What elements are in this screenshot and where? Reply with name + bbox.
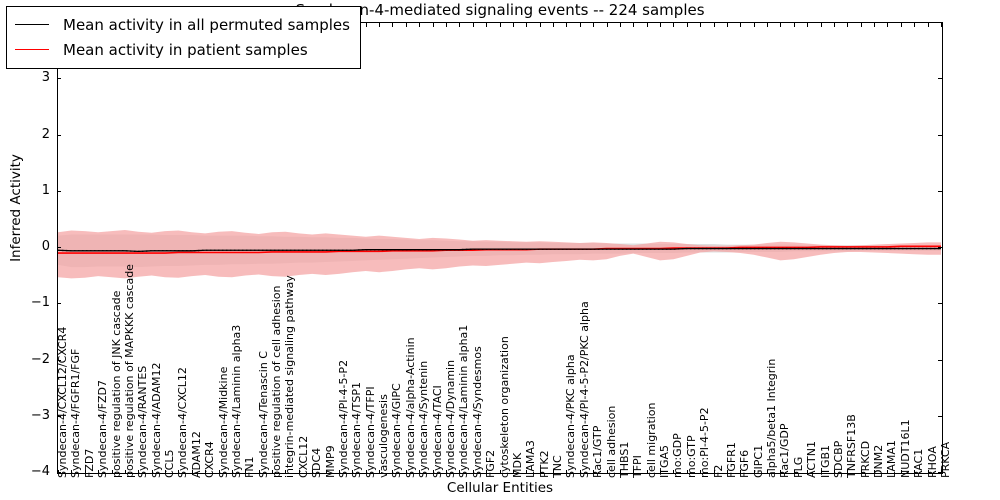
x-tick-mark-top (794, 23, 795, 27)
x-tick-mark-top (914, 23, 915, 27)
x-tick-mark-top (593, 23, 594, 27)
x-tick-mark-top (767, 23, 768, 27)
x-tick-mark-top (821, 23, 822, 27)
x-tick-mark-top (727, 23, 728, 27)
x-tick-mark (861, 470, 862, 474)
x-tick-mark (794, 470, 795, 474)
x-tick-mark-top (687, 23, 688, 27)
x-tick-mark (767, 470, 768, 474)
y-axis-label-wrap: Inferred Activity (0, 0, 1, 1)
x-tick-mark (379, 470, 380, 474)
legend-label-patient: Mean activity in patient samples (63, 41, 308, 59)
x-tick-mark (152, 470, 153, 474)
x-tick-mark (540, 470, 541, 474)
x-tick-mark (660, 470, 661, 474)
y-tick-mark (57, 135, 61, 136)
x-tick-mark (272, 470, 273, 474)
x-tick-mark (125, 470, 126, 474)
x-tick-mark (85, 470, 86, 474)
x-axis-label: Cellular Entities (0, 480, 1000, 496)
x-tick-mark (433, 470, 434, 474)
x-tick-mark (526, 470, 527, 474)
x-tick-mark (780, 470, 781, 474)
x-tick-mark-top (633, 23, 634, 27)
x-tick-mark (473, 470, 474, 474)
x-tick-mark (312, 470, 313, 474)
y-tick-mark (938, 78, 942, 79)
x-tick-mark (339, 470, 340, 474)
x-tick-mark-top (513, 23, 514, 27)
x-tick-mark-top (526, 23, 527, 27)
x-tick-mark (914, 470, 915, 474)
x-tick-mark-top (580, 23, 581, 27)
x-tick-mark (178, 470, 179, 474)
y-tick-mark (938, 416, 942, 417)
y-tick-mark (57, 247, 61, 248)
chart-figure: Syndecan-4-mediated signaling events -- … (0, 0, 1000, 500)
x-tick-mark-top (473, 23, 474, 27)
x-tick-mark-top (673, 23, 674, 27)
x-tick-mark (326, 470, 327, 474)
x-tick-mark (285, 470, 286, 474)
x-tick-mark (874, 470, 875, 474)
x-tick-mark (500, 470, 501, 474)
x-tick-mark (647, 470, 648, 474)
x-tick-mark (352, 470, 353, 474)
legend-item-permuted: Mean activity in all permuted samples (15, 12, 350, 37)
x-tick-mark (138, 470, 139, 474)
x-tick-mark-top (392, 23, 393, 27)
x-tick-mark-top (874, 23, 875, 27)
y-tick-mark (938, 360, 942, 361)
x-tick-mark (754, 470, 755, 474)
x-tick-mark (165, 470, 166, 474)
x-tick-mark-top (433, 23, 434, 27)
x-tick-mark (366, 470, 367, 474)
x-tick-mark (821, 470, 822, 474)
x-tick-mark (245, 470, 246, 474)
x-tick-mark (58, 470, 59, 474)
legend-item-patient: Mean activity in patient samples (15, 37, 350, 62)
x-tick-mark (232, 470, 233, 474)
x-tick-mark-top (647, 23, 648, 27)
y-tick-mark (57, 78, 61, 79)
x-tick-mark (446, 470, 447, 474)
x-tick-mark (714, 470, 715, 474)
y-tick-mark (938, 135, 942, 136)
x-tick-mark (71, 470, 72, 474)
x-tick-mark-top (553, 23, 554, 27)
x-tick-mark (299, 470, 300, 474)
x-tick-mark (419, 470, 420, 474)
x-tick-mark (259, 470, 260, 474)
x-tick-mark-top (928, 23, 929, 27)
x-tick-mark-top (834, 23, 835, 27)
x-tick-mark (633, 470, 634, 474)
x-tick-mark-top (540, 23, 541, 27)
y-tick-mark (938, 247, 942, 248)
x-tick-mark (673, 470, 674, 474)
x-tick-mark (941, 470, 942, 474)
x-tick-mark (807, 470, 808, 474)
x-tick-mark-top (780, 23, 781, 27)
x-tick-mark (901, 470, 902, 474)
x-tick-mark (192, 470, 193, 474)
legend-label-permuted: Mean activity in all permuted samples (63, 16, 350, 34)
x-tick-mark-top (406, 23, 407, 27)
x-tick-mark-top (500, 23, 501, 27)
x-tick-mark-top (740, 23, 741, 27)
x-tick-mark-top (419, 23, 420, 27)
x-tick-mark (887, 470, 888, 474)
y-tick-mark (938, 191, 942, 192)
x-tick-mark (98, 470, 99, 474)
x-tick-mark-top (366, 23, 367, 27)
x-tick-mark-top (901, 23, 902, 27)
y-tick-mark (57, 303, 61, 304)
x-tick-mark (513, 470, 514, 474)
x-tick-mark (834, 470, 835, 474)
x-tick-mark-top (887, 23, 888, 27)
x-tick-mark (566, 470, 567, 474)
legend-line-patient (15, 49, 49, 50)
x-tick-mark-top (607, 23, 608, 27)
x-tick-mark-top (847, 23, 848, 27)
x-tick-mark-top (660, 23, 661, 27)
x-tick-mark (687, 470, 688, 474)
x-tick-mark (593, 470, 594, 474)
chart-legend: Mean activity in all permuted samples Me… (6, 6, 361, 69)
x-tick-mark (740, 470, 741, 474)
x-tick-mark-top (941, 23, 942, 27)
x-tick-mark-top (754, 23, 755, 27)
x-tick-mark (112, 470, 113, 474)
y-tick-mark (938, 303, 942, 304)
y-tick-mark (57, 191, 61, 192)
x-tick-mark (406, 470, 407, 474)
x-tick-mark-top (566, 23, 567, 27)
x-tick-mark-top (714, 23, 715, 27)
x-tick-mark (580, 470, 581, 474)
x-tick-mark (486, 470, 487, 474)
x-tick-mark-top (459, 23, 460, 27)
x-tick-mark (607, 470, 608, 474)
x-tick-mark (847, 470, 848, 474)
x-tick-mark-top (861, 23, 862, 27)
x-tick-mark (553, 470, 554, 474)
x-tick-mark-top (379, 23, 380, 27)
x-tick-mark (928, 470, 929, 474)
x-tick-mark (727, 470, 728, 474)
x-tick-mark-top (446, 23, 447, 27)
x-tick-mark (219, 470, 220, 474)
x-tick-mark (392, 470, 393, 474)
x-tick-mark-top (807, 23, 808, 27)
x-tick-mark (459, 470, 460, 474)
x-tick-mark-top (700, 23, 701, 27)
x-tick-mark-top (486, 23, 487, 27)
x-tick-mark (620, 470, 621, 474)
y-tick-label: −4 (4, 464, 50, 479)
x-tick-mark (205, 470, 206, 474)
x-tick-mark (700, 470, 701, 474)
legend-line-permuted (15, 24, 49, 25)
x-tick-mark-top (620, 23, 621, 27)
